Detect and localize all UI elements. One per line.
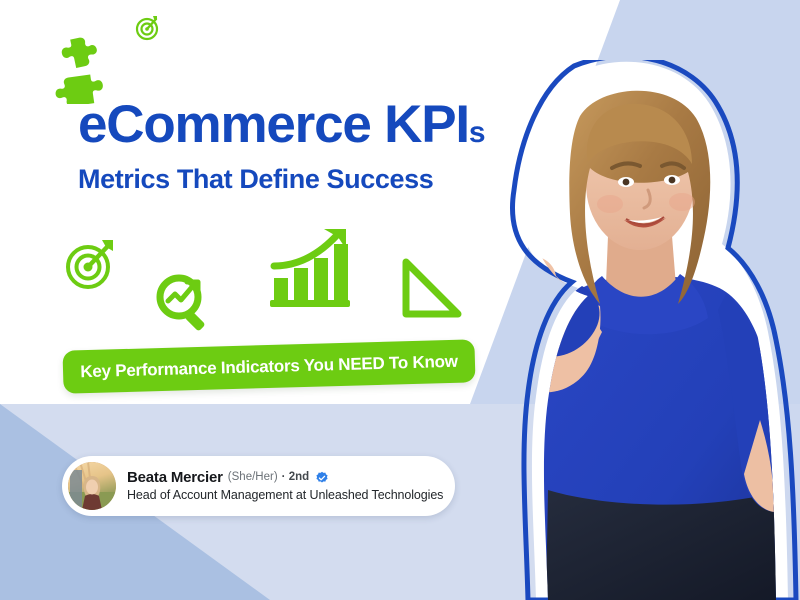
linkedin-profile-card[interactable]: Beata Mercier (She/Her) · 2nd Head of Ac…	[62, 456, 455, 516]
puzzle-pieces-icon	[44, 32, 116, 104]
target-dart-small-icon	[133, 12, 163, 42]
profile-text: Beata Mercier (She/Her) · 2nd Head of Ac…	[127, 469, 443, 503]
profile-pronouns: (She/Her)	[228, 471, 278, 485]
profile-degree: · 2nd	[282, 471, 310, 485]
verified-badge-icon	[315, 471, 329, 485]
banner-label: Key Performance Indicators You NEED To K…	[80, 351, 458, 382]
avatar	[68, 462, 116, 510]
presenter-photo	[430, 60, 800, 600]
graphic-canvas: eCommerce KPIs Metrics That Define Succe…	[0, 0, 800, 600]
title-main: eCommerce KPI	[78, 95, 469, 154]
profile-name: Beata Mercier	[127, 469, 223, 487]
profile-headline: Head of Account Management at Unleashed …	[127, 488, 443, 503]
